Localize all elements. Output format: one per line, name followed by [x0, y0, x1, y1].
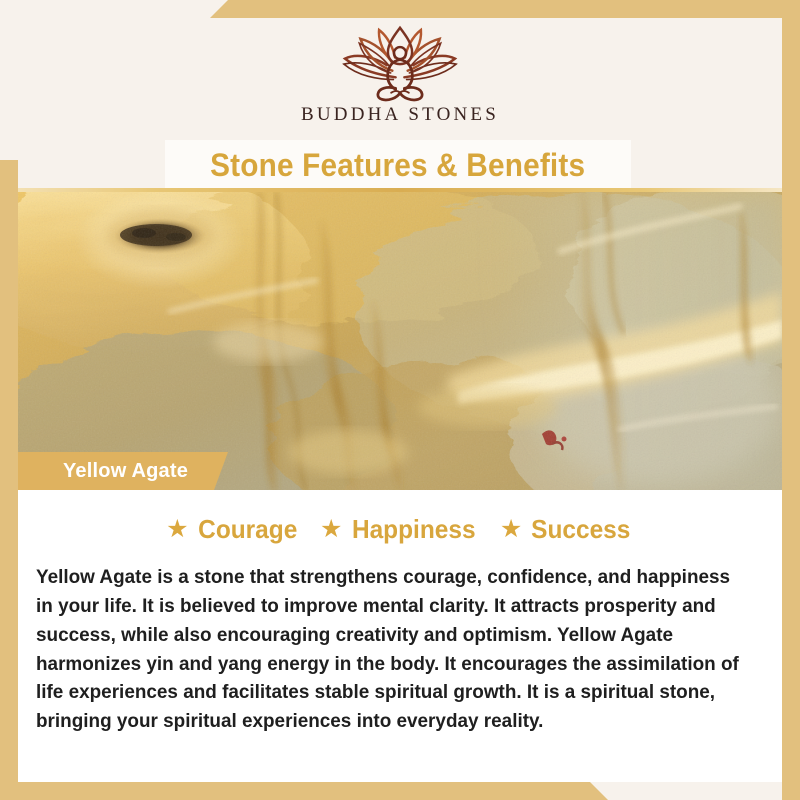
- section-title-panel: Stone Features & Benefits: [165, 140, 631, 190]
- stone-image: [18, 192, 782, 490]
- benefit-item-success: ★ Success: [500, 514, 634, 545]
- stone-texture-graphic: [18, 192, 782, 490]
- star-icon: ★: [320, 517, 342, 542]
- stone-name-label: Yellow Agate: [63, 460, 188, 483]
- content-panel: ★ Courage ★ Happiness ★ Success Yellow A…: [18, 490, 782, 782]
- benefit-item-happiness: ★ Happiness: [320, 514, 480, 545]
- frame-bottom-bar: [0, 782, 800, 800]
- frame-top-bar: [0, 0, 800, 18]
- lotus-meditation-icon: [334, 24, 466, 102]
- benefits-list: ★ Courage ★ Happiness ★ Success: [36, 514, 764, 545]
- benefit-label: Courage: [198, 514, 297, 545]
- brand-name: BUDDHA STONES: [301, 104, 499, 126]
- page-title: Stone Features & Benefits: [210, 147, 585, 184]
- frame-left-bar: [0, 160, 18, 800]
- benefit-label: Happiness: [352, 514, 476, 545]
- stone-description: Yellow Agate is a stone that strengthens…: [36, 563, 742, 736]
- frame-right-bar: [782, 0, 800, 800]
- infographic-page: BUDDHA STONES Stone Features & Benefits: [0, 0, 800, 800]
- stone-name-badge: Yellow Agate: [18, 452, 228, 490]
- benefit-label: Success: [532, 514, 631, 545]
- brand-header: BUDDHA STONES: [18, 18, 782, 140]
- star-icon: ★: [166, 517, 188, 542]
- star-icon: ★: [500, 517, 522, 542]
- benefit-item-courage: ★ Courage: [166, 514, 300, 545]
